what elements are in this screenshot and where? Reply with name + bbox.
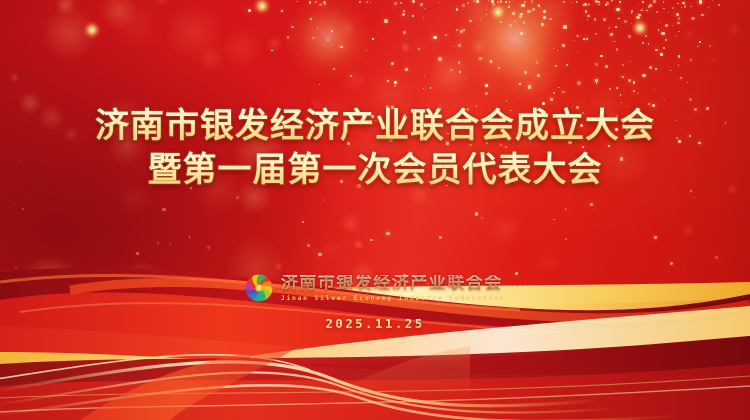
title-line-2: 暨第一届第一次会员代表大会 (0, 148, 750, 192)
pinwheel-logo-icon (245, 274, 273, 302)
organization-branding: 济南市银发经济产业联合会 Jinan Silver Economy Indust… (0, 274, 750, 331)
star-flare (489, 3, 507, 21)
pinwheel-logo-svg (245, 274, 273, 302)
logo-row: 济南市银发经济产业联合会 Jinan Silver Economy Indust… (245, 274, 506, 302)
org-name-cn: 济南市银发经济产业联合会 (281, 275, 506, 292)
poster-canvas: 济南市银发经济产业联合会成立大会 暨第一届第一次会员代表大会 济南市银发经济产业… (0, 0, 750, 420)
star-flare (631, 19, 649, 37)
title-line-1: 济南市银发经济产业联合会成立大会 (0, 104, 750, 148)
event-date: 2025.11.25 (325, 316, 424, 331)
poster-title: 济南市银发经济产业联合会成立大会 暨第一届第一次会员代表大会 (0, 104, 750, 192)
logo-text-block: 济南市银发经济产业联合会 Jinan Silver Economy Indust… (281, 275, 506, 302)
org-name-en: Jinan Silver Economy Industry Federation (281, 295, 506, 302)
star-flare (83, 21, 101, 39)
